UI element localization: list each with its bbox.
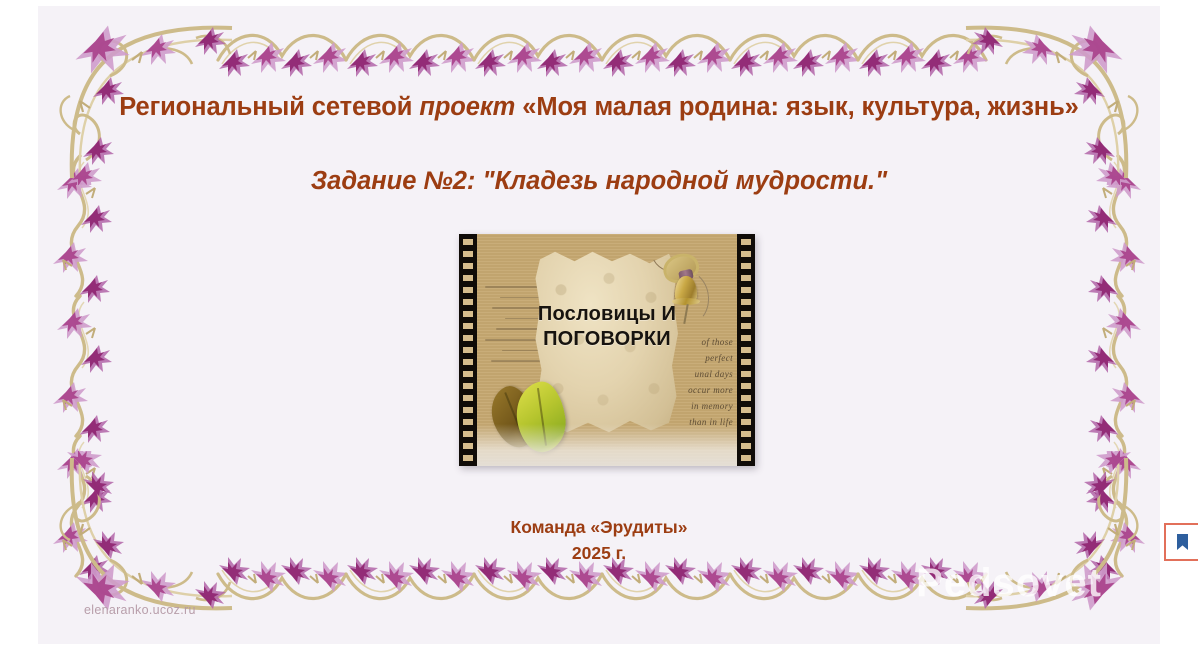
credits-team: Команда «Эрудиты» bbox=[38, 514, 1160, 540]
title-part-proekt: проект bbox=[419, 93, 515, 121]
page-margin-bottom bbox=[0, 644, 1200, 668]
watermark-site: elenaranko.ucoz.ru bbox=[84, 603, 196, 617]
film-perforation-left bbox=[459, 234, 477, 466]
page-margin-left bbox=[0, 0, 38, 668]
slide-credits: Команда «Эрудиты» 2025 г. bbox=[38, 514, 1160, 566]
title-part-regional: Региональный сетевой bbox=[119, 93, 419, 121]
proverbs-illustration[interactable]: of thoseperfectunal daysoccur morein mem… bbox=[459, 234, 755, 466]
border-top-vine bbox=[38, 8, 1160, 82]
slide-canvas: Региональный сетевой проект «Моя малая р… bbox=[38, 6, 1160, 644]
page-margin-right bbox=[1160, 0, 1200, 668]
picture-inner: of thoseperfectunal daysoccur morein mem… bbox=[459, 234, 755, 466]
watermark-brand: Pedsovet bbox=[916, 561, 1102, 606]
picture-bottom-glow bbox=[477, 424, 737, 466]
bookmark-button[interactable] bbox=[1164, 523, 1198, 561]
slide-title: Региональный сетевой проект «Моя малая р… bbox=[38, 92, 1160, 123]
title-part-name: «Моя малая родина: язык, культура, жизнь… bbox=[515, 93, 1079, 121]
film-perforation-right bbox=[737, 234, 755, 466]
bell-decoration bbox=[655, 248, 713, 334]
bookmark-icon bbox=[1176, 534, 1189, 550]
slide-subtitle: Задание №2: "Кладезь народной мудрости." bbox=[38, 166, 1160, 197]
presentation-slide: Региональный сетевой проект «Моя малая р… bbox=[0, 0, 1200, 668]
